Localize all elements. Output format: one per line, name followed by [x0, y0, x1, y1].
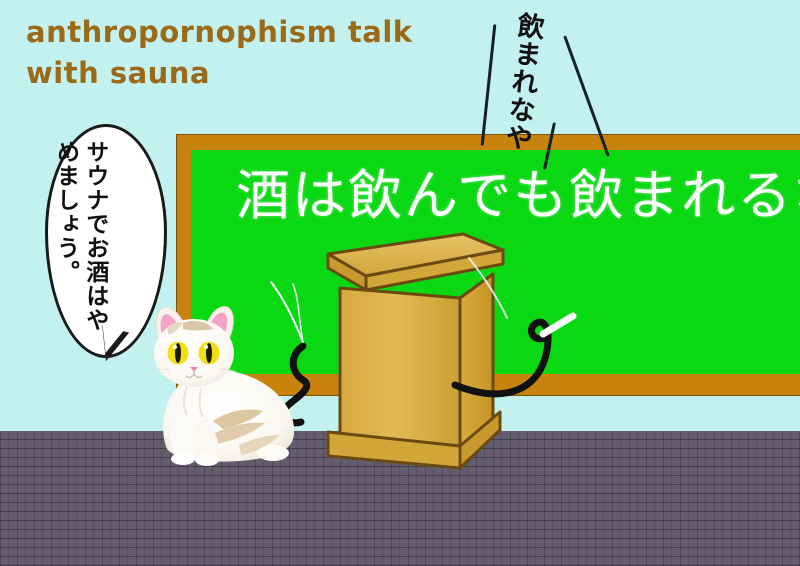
- page-title: anthropornophism talk with sauna: [26, 12, 496, 93]
- blackboard-text: 酒は飲んでも飲まれるな: [236, 168, 800, 225]
- speech-bubble-text: サウナでお酒はやめましょう。: [50, 140, 109, 342]
- podium-lectern: [288, 232, 538, 470]
- cat-figure: [143, 303, 308, 466]
- scene-canvas: 酒は飲んでも飲まれるな 飲まれなや: [0, 0, 800, 566]
